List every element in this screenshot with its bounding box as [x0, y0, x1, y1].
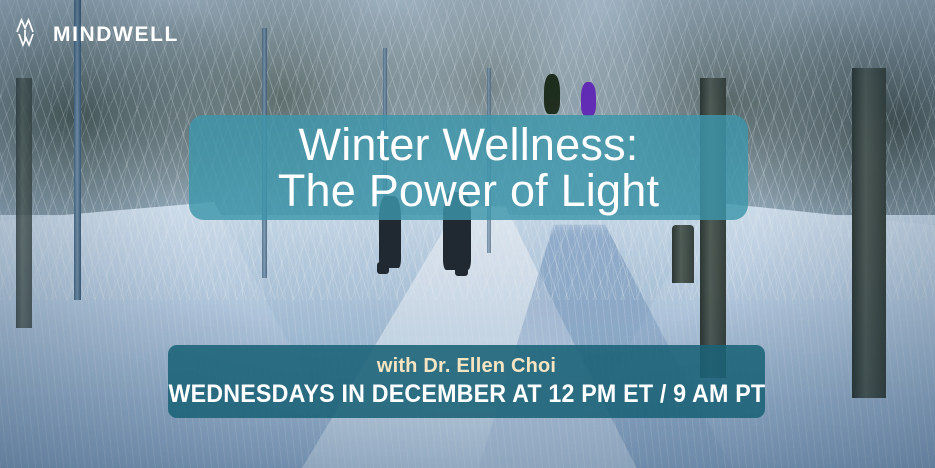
brand-logo[interactable]: MINDWELL: [14, 17, 179, 51]
brand-name: MINDWELL: [53, 24, 179, 45]
webinar-promo-banner: MINDWELL Winter Wellness: The Power of L…: [0, 0, 935, 468]
title-line-2: The Power of Light: [278, 168, 659, 214]
title-line-1: Winter Wellness:: [299, 122, 639, 168]
event-details-banner: with Dr. Ellen Choi WEDNESDAYS IN DECEMB…: [168, 345, 765, 418]
title-panel: Winter Wellness: The Power of Light: [189, 115, 748, 220]
event-schedule: WEDNESDAYS IN DECEMBER AT 12 PM ET / 9 A…: [168, 380, 765, 409]
speaker-name: with Dr. Ellen Choi: [377, 355, 556, 378]
mindwell-mountain-mark-icon: [14, 17, 44, 51]
